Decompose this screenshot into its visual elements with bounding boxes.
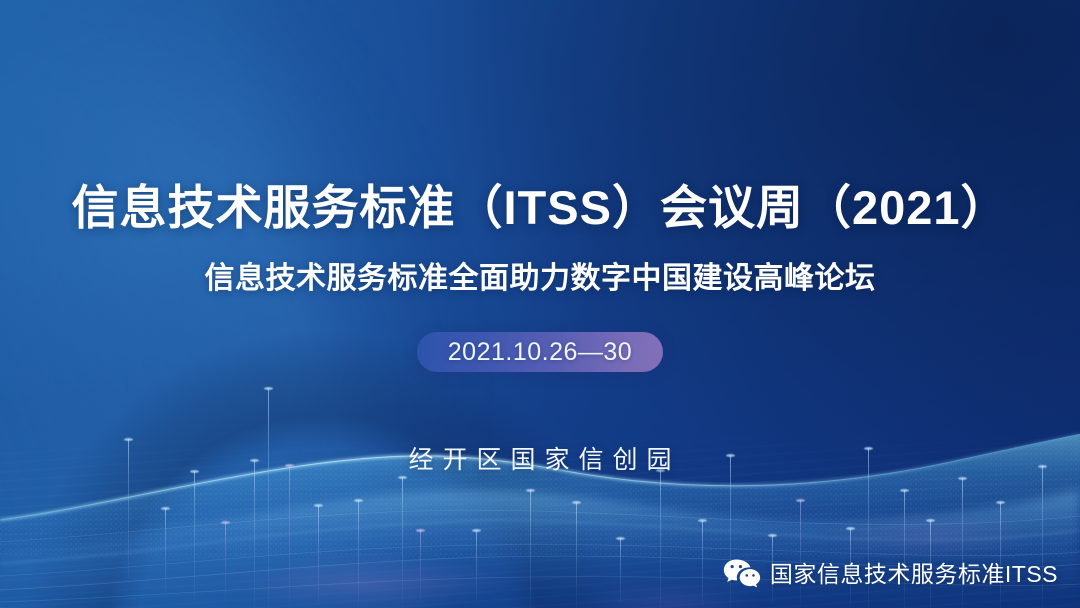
event-venue: 经开区国家信创园 <box>0 442 1080 478</box>
wechat-icon <box>723 558 761 590</box>
poster-canvas: 信息技术服务标准（ITSS）会议周（2021） 信息技术服务标准全面助力数字中国… <box>0 0 1080 608</box>
page-subtitle: 信息技术服务标准全面助力数字中国建设高峰论坛 <box>0 257 1080 301</box>
event-date-text: 2021.10.26—30 <box>448 340 632 365</box>
event-date-badge: 2021.10.26—30 <box>417 332 663 372</box>
wechat-account-name: 国家信息技术服务标准ITSS <box>770 563 1058 586</box>
page-title: 信息技术服务标准（ITSS）会议周（2021） <box>0 177 1080 239</box>
wechat-watermark: 国家信息技术服务标准ITSS <box>723 558 1058 590</box>
poster-content: 信息技术服务标准（ITSS）会议周（2021） 信息技术服务标准全面助力数字中国… <box>0 0 1080 608</box>
